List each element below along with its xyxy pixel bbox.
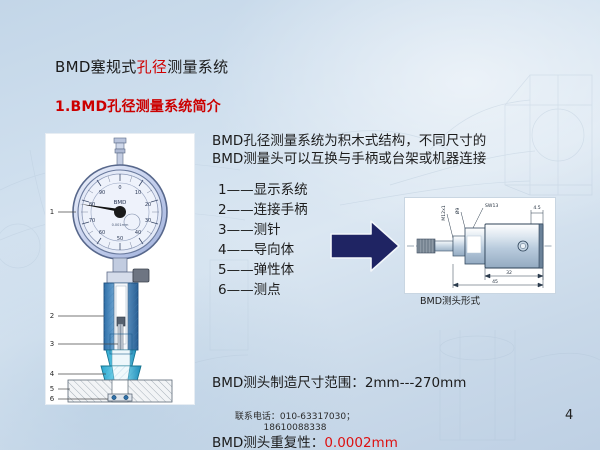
footer-contact: 联系电话：010-63317030；18610088338: [200, 412, 390, 434]
title-suffix: 测量系统: [167, 58, 228, 76]
svg-text:0: 0: [118, 185, 121, 191]
svg-text:4: 4: [50, 370, 55, 378]
spec-label: BMD测头制造尺寸范围：: [212, 375, 365, 391]
footer-line-1: 联系电话：010-63317030；: [200, 412, 390, 423]
list-item: 4——导向体: [218, 240, 308, 260]
svg-text:30: 30: [145, 218, 151, 224]
spec-row: BMD测头制造尺寸范围：2mm---270mm: [212, 373, 466, 393]
footer-line-2: 18610088338: [200, 423, 390, 434]
callout-legend-list: 1——显示系统2——连接手柄3——测针4——导向体5——弹性体6——测点: [218, 180, 308, 300]
svg-text:BMD: BMD: [114, 200, 127, 206]
spec-value: 0.0002mm: [324, 435, 398, 450]
svg-text:80: 80: [89, 202, 95, 208]
figure-caption: BMD测头形式: [420, 293, 480, 307]
title-prefix: BMD塞规式: [55, 58, 137, 76]
svg-text:40: 40: [135, 230, 141, 236]
title-highlight: 孔径: [137, 58, 168, 76]
intro-paragraph-line-1: BMD孔径测量系统为积木式结构，不同尺寸的: [212, 133, 486, 149]
svg-text:Ø9: Ø9: [454, 208, 461, 215]
section-subtitle: 1.BMD孔径测量系统简介: [55, 96, 221, 116]
svg-text:20: 20: [145, 202, 151, 208]
svg-text:45: 45: [492, 279, 498, 285]
spec-value: 2mm---270mm: [365, 375, 467, 391]
callout-numbers: 123 456: [50, 208, 55, 403]
svg-text:10: 10: [135, 190, 141, 196]
svg-text:M12x1: M12x1: [441, 205, 447, 221]
dial-indicator-face: 01020 304050 607080 90 BMD 0.001mm: [73, 165, 167, 259]
main-barrel: [485, 224, 543, 268]
intro-paragraph: BMD孔径测量系统为积木式结构，不同尺寸的 BMD测量头可以互换与手柄或台架或机…: [212, 132, 486, 168]
svg-text:50: 50: [117, 236, 123, 242]
list-item: 6——测点: [218, 280, 308, 300]
shaft: [435, 241, 453, 251]
spec-label: BMD测头重复性：: [212, 435, 324, 450]
svg-text:0.001mm: 0.001mm: [112, 223, 129, 227]
hex-collar: [453, 236, 465, 256]
svg-text:2: 2: [50, 312, 54, 320]
svg-text:SW13: SW13: [485, 203, 498, 209]
threaded-tip: [417, 239, 435, 253]
svg-text:1: 1: [50, 208, 54, 216]
svg-text:70: 70: [89, 218, 95, 224]
list-item: 3——测针: [218, 220, 308, 240]
intro-paragraph-line-2: BMD测量头可以互换与手柄或台架或机器连接: [212, 151, 486, 167]
svg-text:6: 6: [50, 395, 55, 403]
slide-canvas: BMD塞规式孔径测量系统 1.BMD孔径测量系统简介 BMD孔径测量系统为积木式…: [0, 0, 600, 450]
spec-row: BMD测头重复性：0.0002mm: [212, 433, 466, 450]
list-item: 5——弹性体: [218, 260, 308, 280]
list-item: 1——显示系统: [218, 180, 308, 200]
svg-text:3: 3: [50, 340, 54, 348]
svg-text:32: 32: [506, 270, 512, 276]
bore-gauge-figure: 01020 304050 607080 90 BMD 0.001mm: [45, 133, 195, 405]
clamp-block: [133, 269, 149, 282]
page-number: 4: [565, 408, 573, 423]
gauge-neck: [113, 258, 127, 272]
flow-arrow-icon: [327, 218, 403, 274]
slide-title: BMD塞规式孔径测量系统: [55, 56, 228, 77]
svg-text:90: 90: [99, 190, 105, 196]
list-item: 2——连接手柄: [218, 200, 308, 220]
svg-text:5: 5: [50, 385, 54, 393]
gauge-top-stem: [114, 138, 126, 167]
measuring-head-drawing: 32 45 4.5 SW13 Ø9 M12x1: [404, 197, 556, 294]
svg-text:60: 60: [99, 230, 105, 236]
measuring-point: [108, 394, 132, 401]
svg-text:4.5: 4.5: [533, 205, 540, 211]
